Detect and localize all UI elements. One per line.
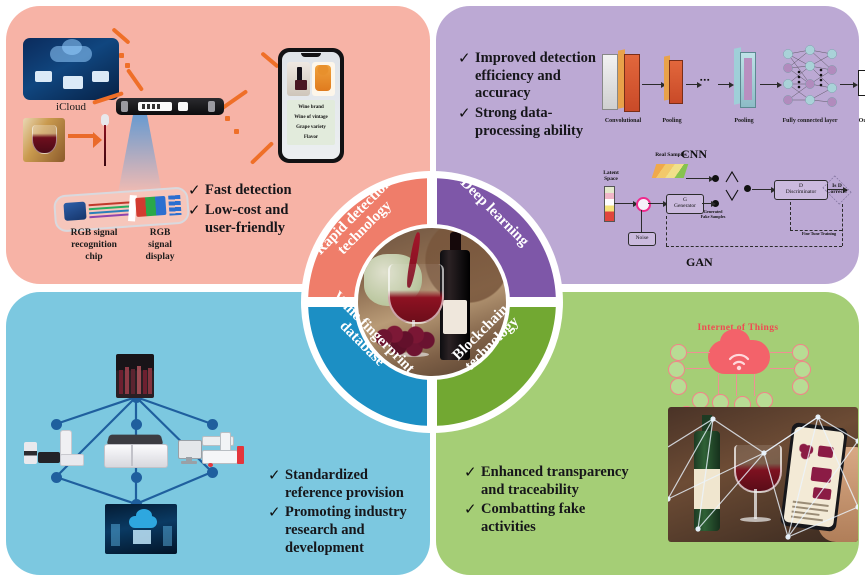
cnn-layer-label: Output [852, 118, 865, 124]
check-icon: ✓ [458, 105, 475, 123]
iot-device-icon [668, 361, 685, 378]
noise-box: Noise [628, 232, 656, 246]
check-icon: ✓ [458, 50, 475, 68]
network-node [131, 472, 142, 483]
is-d-correct-label: Is D Correct? [824, 183, 850, 195]
phone-attribute-list: Wine brand Wine of vintage Grape variety… [287, 100, 335, 145]
iot-connector [736, 374, 737, 396]
iot-device-icon [792, 378, 809, 395]
chip-caption-line1: RGB signal [56, 228, 132, 240]
phone-bottle-thumb [287, 62, 310, 96]
input-image-layer [602, 54, 618, 110]
blockchain-bullets: ✓ Enhanced transparency and traceability… [464, 464, 639, 539]
phone-attribute: Grape variety [296, 125, 326, 130]
center-wheel: Rapid detection technology Deep learning… [301, 171, 563, 433]
network-node [131, 419, 142, 430]
noise-label: Noise [636, 236, 649, 242]
wine-sample-photo [23, 118, 65, 162]
connector-dot [125, 63, 130, 68]
fine-tune-training-label: Fine Tune Training [792, 232, 846, 237]
iot-connector [770, 368, 794, 369]
pooling-inner [744, 58, 752, 100]
flow-arrow-icon [686, 178, 710, 179]
gan-diagram: Latent Space G Generator Noise Real Samp… [596, 158, 854, 253]
discriminator-label: Discriminator [786, 190, 817, 196]
display-caption: RGB signal display [130, 228, 190, 264]
check-icon: ✓ [464, 464, 481, 482]
bullet-text: Promoting industry research and developm… [285, 504, 418, 557]
chip-trace [89, 213, 133, 218]
rgb-display-block [135, 196, 166, 217]
blockchain-mesh-overlay [668, 407, 858, 542]
flow-arrow-icon [614, 203, 634, 204]
check-icon: ✓ [268, 467, 285, 485]
phone-attribute: Flavor [304, 135, 318, 140]
iot-connector [770, 352, 794, 353]
bullet-text: Improved detection efficiency and accura… [475, 50, 610, 103]
iot-connector [718, 374, 719, 396]
wine-glass-shape [32, 125, 57, 154]
generator-box: G Generator [666, 194, 704, 214]
phone-attribute: Wine of vintage [294, 115, 328, 120]
connector-dot [234, 129, 239, 134]
bullet-text: Low-cost and user-friendly [205, 202, 308, 237]
bullet-item: ✓ Enhanced transparency and traceability [464, 464, 639, 499]
iot-connector [754, 374, 755, 396]
fully-connected-layer-graphic [782, 44, 838, 114]
flow-arrow-icon [752, 189, 772, 190]
phone-screen: Wine brand Wine of vintage Grape variety… [282, 52, 340, 159]
rgb-signal-chip-illustration [53, 186, 190, 232]
fc-edges [782, 44, 838, 114]
feedback-dashed-riser [666, 216, 667, 246]
feedback-dashed-riser [790, 202, 791, 230]
chip-caption-line2: recognition [56, 240, 132, 252]
flow-arrow-icon [760, 84, 778, 85]
wine-fingerprint-bullets: ✓ Standardized reference provision ✓ Pro… [268, 467, 418, 559]
cnn-layer-label: Pooling [652, 118, 692, 124]
blockchain-traceability-photo [668, 407, 858, 542]
noise-arrow-icon [641, 210, 642, 232]
analyser-instrument-graphic [24, 428, 82, 468]
scanner-light-beam [118, 115, 162, 193]
cnn-layer-label: Convolutional [597, 118, 649, 124]
chip-bar-indicator [168, 195, 181, 216]
output-layer [858, 70, 865, 96]
laptop-icon [63, 76, 83, 89]
gan-title: GAN [686, 255, 713, 270]
connector-dot [119, 53, 124, 58]
scanner-right-tab [208, 101, 215, 112]
connector-dot [225, 116, 230, 121]
cnn-layer-label: Fully connected layer [776, 118, 844, 124]
check-icon: ✓ [464, 501, 481, 519]
flow-arrow-icon [718, 84, 730, 85]
swab-stick [104, 125, 106, 166]
rapid-detection-bullets: ✓ Fast detection ✓ Low-cost and user-fri… [188, 182, 308, 240]
scanner-led [147, 104, 150, 109]
latent-space-label: Latent Space [596, 170, 626, 182]
selector-switch-icon [724, 166, 740, 206]
center-wine-photo [354, 224, 510, 380]
smartphone-result-mockup: Wine brand Wine of vintage Grape variety… [278, 48, 344, 163]
wine-glass [388, 264, 444, 324]
iot-connector [686, 368, 710, 369]
network-node [207, 419, 218, 430]
bullet-text: Fast detection [205, 182, 292, 200]
bullet-item: ✓ Improved detection efficiency and accu… [458, 50, 610, 103]
iot-device-icon [670, 344, 687, 361]
generated-fake-samples-label: Generated Fake Samples [700, 210, 726, 219]
check-icon: ✓ [188, 202, 205, 220]
phone-figure-thumb [312, 62, 335, 96]
wifi-icon [708, 340, 770, 374]
connector-line [126, 68, 144, 92]
bullet-text: Combatting fake activities [481, 501, 639, 536]
chip-sensor [63, 202, 86, 221]
wine-bottle-collection-photo [116, 354, 154, 398]
iot-connector [686, 352, 710, 353]
flow-arrow-icon [702, 203, 712, 204]
connector-line [220, 89, 249, 111]
mixer-node-icon [636, 197, 651, 212]
bullet-item: ✓ Standardized reference provision [268, 467, 418, 502]
real-samples-label: Real Samples [644, 152, 698, 158]
deep-learning-bullets: ✓ Improved detection efficiency and accu… [458, 50, 610, 142]
bullet-text: Strong data-processing ability [475, 105, 610, 140]
bottle-label [443, 300, 467, 334]
red-grape-cluster [376, 324, 442, 358]
connector-line [250, 141, 274, 165]
bullet-item: ✓ Fast detection [188, 182, 308, 200]
phone-attribute: Wine brand [298, 105, 324, 110]
icloud-illustration [23, 38, 119, 100]
convolutional-layer [624, 54, 640, 112]
bullet-text: Standardized reference provision [285, 467, 418, 502]
latent-line2: Space [604, 176, 618, 182]
scanner-led [157, 104, 160, 109]
scanner-led [152, 104, 155, 109]
box-icon [295, 80, 307, 90]
display-caption-line1: RGB [130, 228, 190, 240]
process-arrow-icon [68, 134, 94, 138]
laptop-icon [35, 71, 52, 82]
discriminator-box: D Discriminator [774, 180, 828, 200]
icloud-caption: iCloud [23, 101, 119, 113]
bullet-item: ✓ Combatting fake activities [464, 501, 639, 536]
check-icon: ✓ [188, 182, 205, 200]
cloud-datacenter-photo [105, 504, 177, 554]
check-icon: ✓ [268, 504, 285, 522]
cnn-diagram: ▪▪▪ [602, 40, 852, 145]
latent-vector-bar [604, 186, 615, 222]
handheld-scanner-illustration [116, 98, 224, 115]
feedback-dashed-path [666, 246, 842, 247]
infographic-canvas: iCloud [0, 0, 865, 581]
bullet-item: ✓ Low-cost and user-friendly [188, 202, 308, 237]
iot-device-icon [792, 344, 809, 361]
chip-caption-line3: chip [56, 252, 132, 264]
cnn-layer-label: Pooling [724, 118, 764, 124]
bullet-item: ✓ Strong data-processing ability [458, 105, 610, 140]
iot-device-icon [794, 361, 811, 378]
flow-arrow-icon [648, 203, 664, 204]
merge-node [744, 185, 751, 192]
flow-arrow-icon [686, 84, 698, 85]
generator-label: Generator [674, 204, 696, 210]
display-caption-line2: signal [130, 240, 190, 252]
cnn-ellipsis: ▪▪▪ [700, 76, 710, 84]
iot-device-icon [670, 378, 687, 395]
pooling-layer [669, 60, 683, 104]
flow-arrow-icon [642, 84, 662, 85]
feedback-dashed-riser [842, 204, 843, 246]
scanner-left-tab [121, 101, 128, 112]
scanner-led [142, 104, 145, 109]
laptop-icon [92, 71, 109, 82]
flow-arrow-icon [840, 84, 854, 85]
person-icon [315, 65, 331, 91]
bullet-item: ✓ Promoting industry research and develo… [268, 504, 418, 557]
phone-image-row [287, 62, 335, 96]
cloud-icon [50, 46, 92, 62]
real-samples-stack [652, 164, 689, 178]
bullet-text: Enhanced transparency and traceability [481, 464, 639, 499]
chip-caption: RGB signal recognition chip [56, 228, 132, 264]
workstation-graphic [178, 430, 248, 472]
scanner-window-small [178, 102, 188, 111]
phone-notch [301, 53, 321, 57]
real-sample-node [712, 175, 719, 182]
iot-cloud-icon [708, 340, 770, 374]
display-caption-line3: display [130, 252, 190, 264]
connector-line [260, 51, 279, 68]
benchtop-analyser-graphic [104, 432, 166, 470]
test-swab-illustration [101, 114, 109, 166]
network-node [51, 472, 62, 483]
